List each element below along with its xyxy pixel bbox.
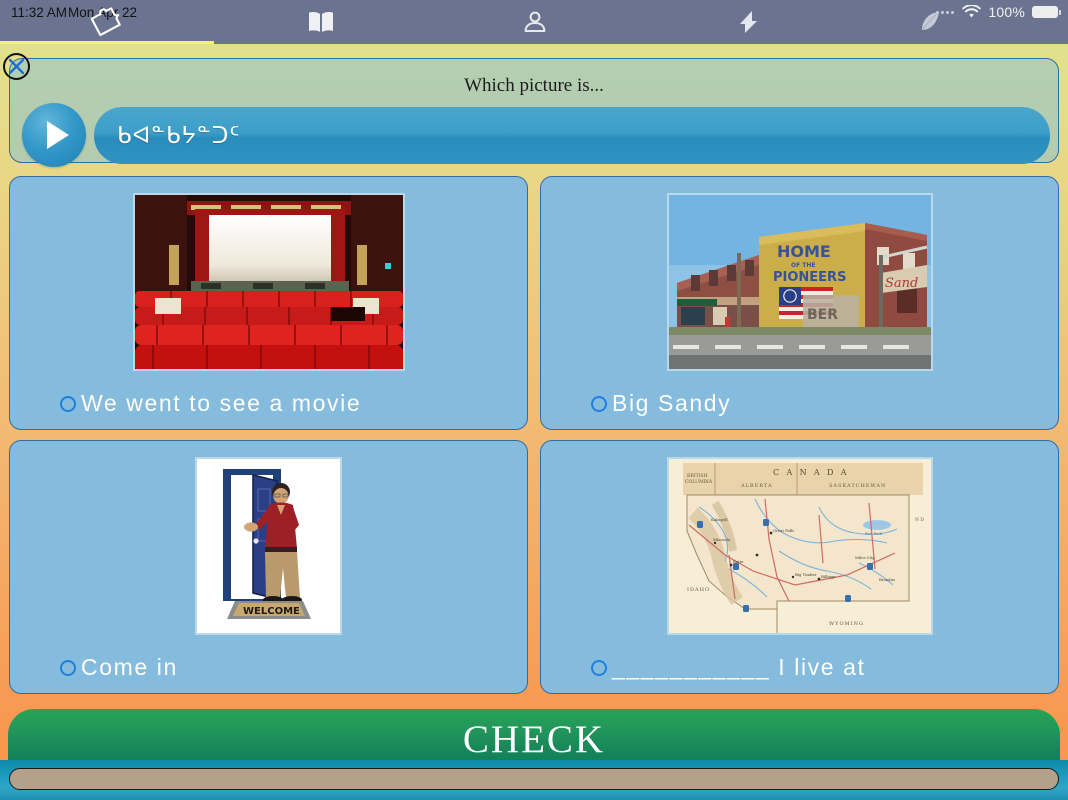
tab-active-underline [0,41,214,44]
svg-text:Big Timber: Big Timber [795,572,817,577]
svg-text:COLUMBIA: COLUMBIA [685,479,713,485]
check-button-label: CHECK [463,717,605,762]
person-icon [522,9,548,35]
choice-label-row-1: Big Sandy [541,390,1058,417]
svg-text:Billings: Billings [821,574,836,579]
play-icon [47,121,69,149]
choice-label-1: Big Sandy [612,390,731,417]
svg-text:ALBERTA: ALBERTA [740,483,773,489]
choice-label-0: We went to see a movie [81,390,361,417]
prompt-panel: Which picture is... ᑲᐊᓐᑲᔭᓐᑐᑦ [9,58,1059,163]
tab-person[interactable] [428,0,642,44]
svg-text:Broadus: Broadus [879,577,895,582]
tab-bar [0,0,1068,44]
choices-grid: We went to see a movie [9,176,1059,694]
close-button[interactable] [3,53,30,80]
choice-label-row-3: ___________ I live at [541,654,1058,681]
svg-text:WELCOME: WELCOME [243,606,300,617]
svg-text:OF THE: OF THE [791,262,816,269]
choice-card-0[interactable]: We went to see a movie [9,176,528,430]
tab-puzzle[interactable] [0,0,214,44]
choice-image-2: WELCOME [195,457,342,635]
play-audio-button[interactable] [22,103,86,167]
svg-text:Sand: Sand [885,276,918,291]
svg-text:Fort Peck: Fort Peck [865,532,883,536]
svg-text:SASKATCHEWAN: SASKATCHEWAN [829,483,886,489]
choice-image-wrap-1: HOME OF THE PIONEERS [541,191,1058,373]
choice-card-2[interactable]: WELCOME Come in [9,440,528,694]
prompt-title: Which picture is... [10,75,1058,97]
choice-card-1[interactable]: HOME OF THE PIONEERS [540,176,1059,430]
choice-radio-2[interactable] [60,660,76,676]
svg-text:Miles City: Miles City [855,555,875,560]
puzzle-piece-icon [88,4,126,40]
app-screen: 11:32 AM Mon Apr 22 100% [0,0,1068,800]
syllabics-text: ᑲᐊᓐᑲᔭᓐᑐᑦ [117,123,240,149]
svg-text:BER: BER [807,307,838,323]
open-book-icon [306,10,336,34]
tab-bolt[interactable] [642,0,856,44]
bottom-progress-bar[interactable] [9,768,1059,790]
svg-text:Missoula: Missoula [713,537,731,542]
svg-text:Butte: Butte [733,559,744,564]
choice-image-wrap-3: C A N A D A BRITISH COLUMBIA ALBERTA SAS… [541,455,1058,637]
choice-label-2: Come in [81,654,178,681]
choice-image-wrap-2: WELCOME [10,455,527,637]
close-icon [8,58,25,75]
syllabics-prompt-bar[interactable]: ᑲᐊᓐᑲᔭᓐᑐᑦ [94,107,1050,164]
choice-radio-3[interactable] [591,660,607,676]
map-label-canada: C A N A D A [773,468,849,477]
svg-text:Great Falls: Great Falls [773,528,794,533]
choice-radio-1[interactable] [591,396,607,412]
choice-label-row-0: We went to see a movie [10,390,527,417]
choice-label-3: ___________ I live at [612,654,866,681]
lightning-bolt-icon [736,8,762,36]
svg-text:WYOMING: WYOMING [829,621,864,627]
svg-text:PIONEERS: PIONEERS [773,270,846,285]
choice-image-1: HOME OF THE PIONEERS [667,193,933,371]
choice-card-3[interactable]: C A N A D A BRITISH COLUMBIA ALBERTA SAS… [540,440,1059,694]
choice-image-0 [133,193,405,371]
svg-text:N D: N D [915,518,924,523]
choice-image-3: C A N A D A BRITISH COLUMBIA ALBERTA SAS… [667,457,933,635]
choice-label-row-2: Come in [10,654,527,681]
choice-image-wrap-0 [10,191,527,373]
svg-text:IDAHO: IDAHO [687,587,710,593]
svg-text:BRITISH: BRITISH [687,473,708,479]
svg-text:HOME: HOME [777,242,831,261]
choice-radio-0[interactable] [60,396,76,412]
tab-book[interactable] [214,0,428,44]
svg-text:Kalispell: Kalispell [711,517,728,522]
